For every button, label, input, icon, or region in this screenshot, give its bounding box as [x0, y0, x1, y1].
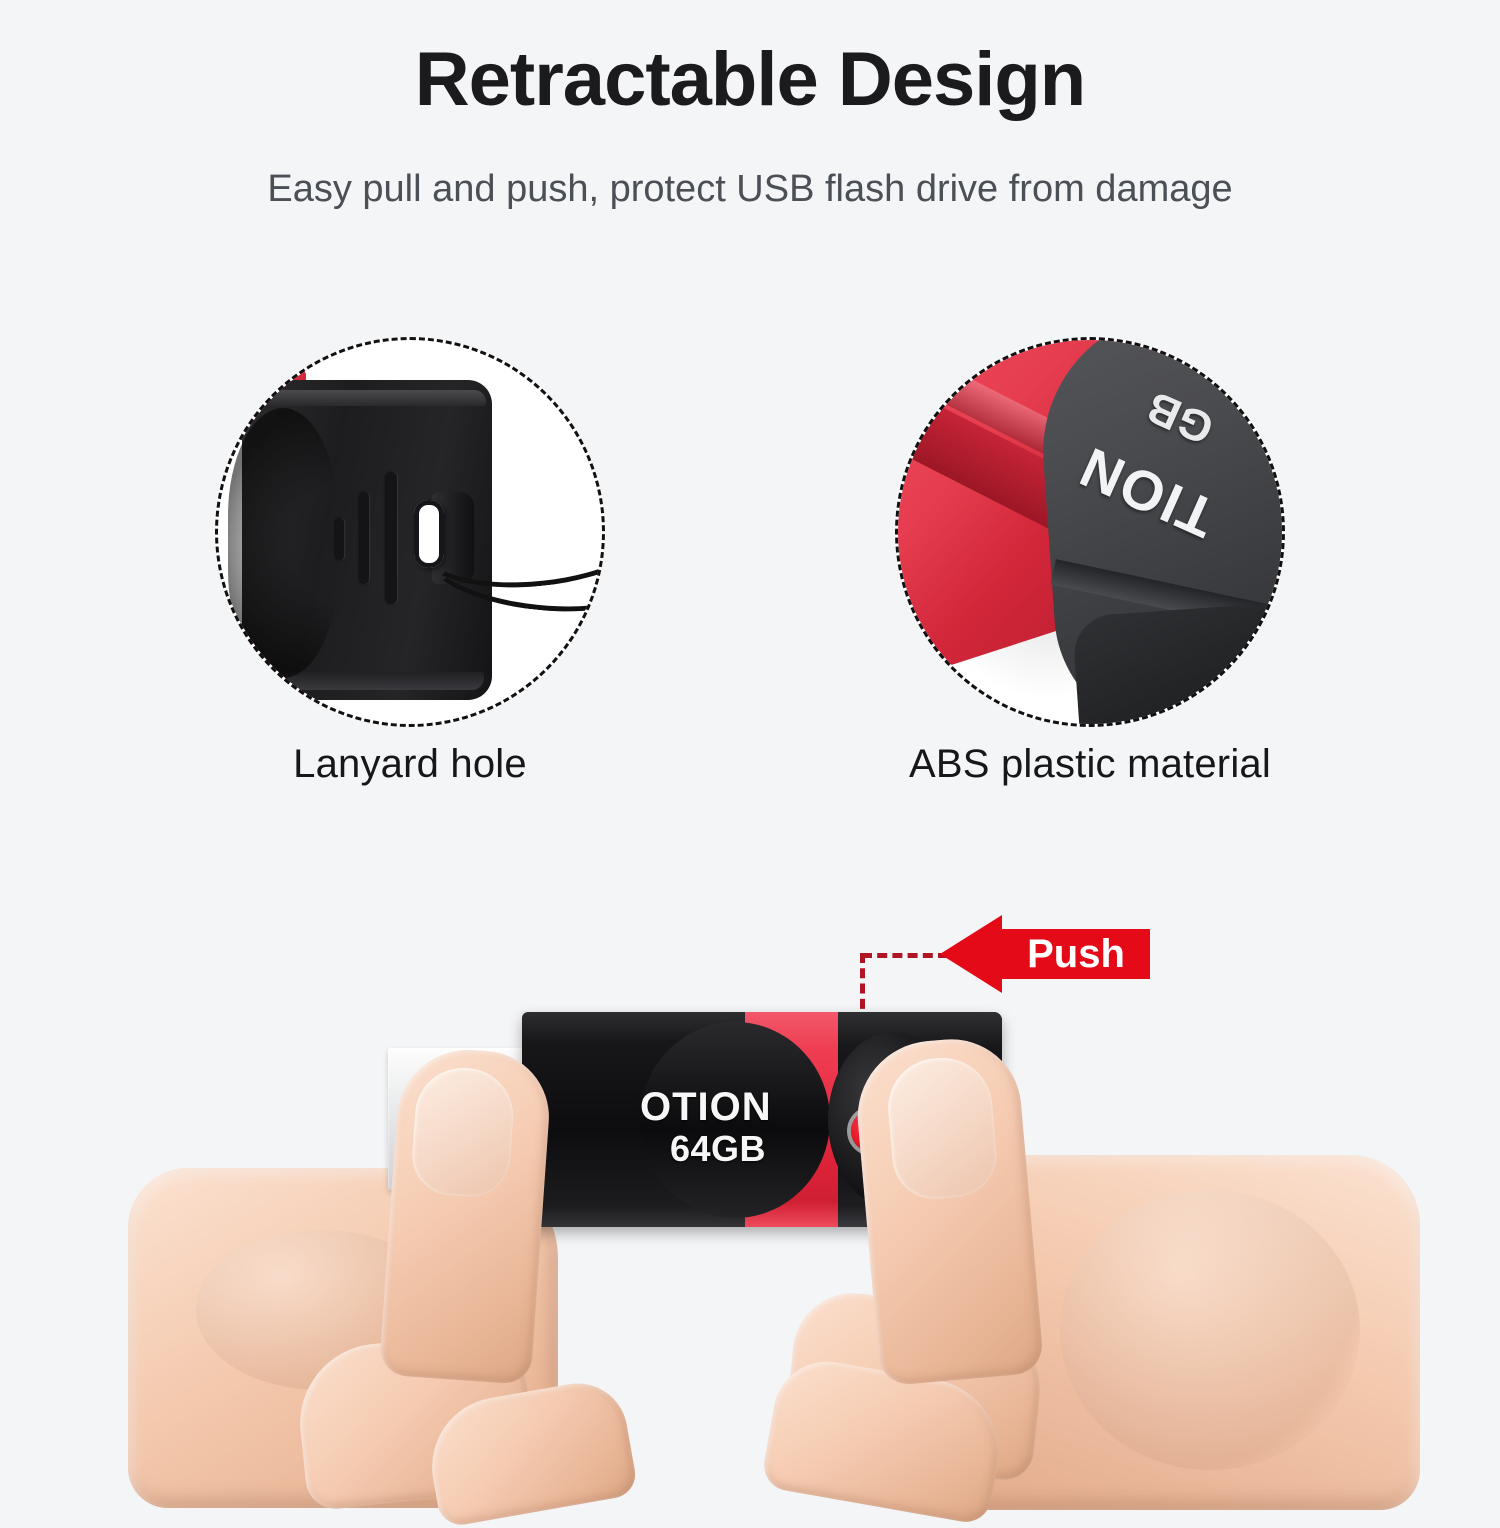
abs-plastic-illustration: TION GB: [898, 340, 1282, 724]
left-hand-index-fingernail: [410, 1065, 517, 1200]
page-subtitle: Easy pull and push, protect USB flash dr…: [0, 168, 1500, 211]
arrow-head-icon: [940, 915, 1002, 993]
drive-top-strip: [256, 390, 486, 406]
feature-circle-lanyard-hole: [215, 337, 605, 727]
feature-caption-lanyard-hole: Lanyard hole: [215, 742, 605, 787]
grip-ridge-1: [336, 518, 344, 560]
page-title: Retractable Design: [0, 36, 1500, 123]
grip-ridge-3: [386, 472, 397, 604]
product-feature-page: Retractable Design Easy pull and push, p…: [0, 0, 1500, 1500]
lanyard-hole-illustration: [218, 340, 602, 724]
right-hand-knuckles: [1060, 1190, 1360, 1470]
grip-ridge-2: [360, 492, 369, 584]
drive-side-scoop-shadow: [228, 408, 338, 678]
drive-brand-text: OTION: [640, 1085, 820, 1130]
dark-shell-foot: [1072, 599, 1285, 727]
push-callout-arrow: Push: [940, 915, 1150, 993]
push-label: Push: [1002, 929, 1150, 979]
feature-circle-abs-plastic: TION GB: [895, 337, 1285, 727]
feature-caption-abs-plastic: ABS plastic material: [860, 742, 1320, 787]
callout-leader-horizontal: [862, 953, 948, 958]
drive-capacity-text: 64GB: [670, 1128, 850, 1170]
